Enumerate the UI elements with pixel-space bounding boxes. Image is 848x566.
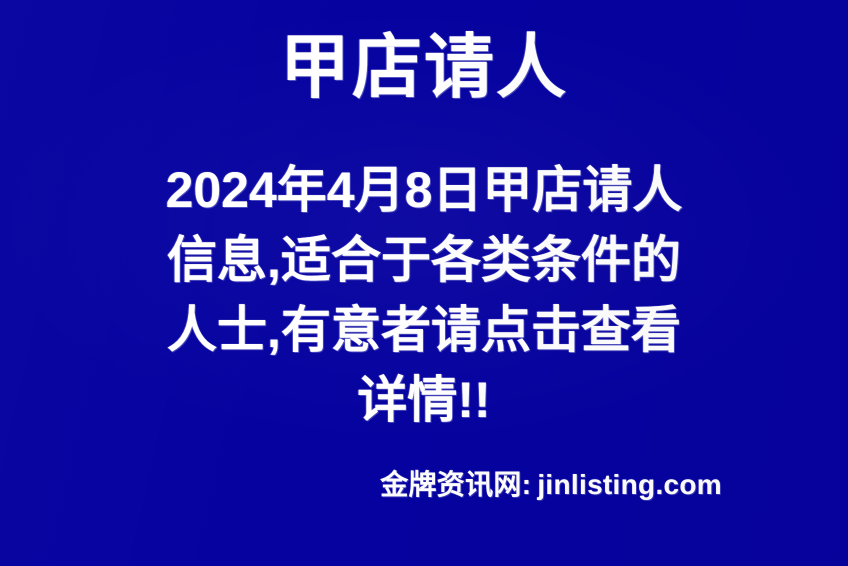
body-line-4: 详情!! xyxy=(134,365,714,435)
page-title: 甲店请人 xyxy=(0,32,848,102)
poster-canvas: 甲店请人 2024年4月8日甲店请人 信息,适合于各类条件的 人士,有意者请点击… xyxy=(0,0,848,566)
site-attribution: 金牌资讯网:jinlisting.com xyxy=(380,463,722,503)
brand-separator: : xyxy=(522,469,532,500)
body-line-2: 信息,适合于各类条件的 xyxy=(134,225,714,295)
announcement-body: 2024年4月8日甲店请人 信息,适合于各类条件的 人士,有意者请点击查看 详情… xyxy=(134,155,714,435)
brand-name: 金牌资讯网 xyxy=(380,469,522,500)
body-line-3: 人士,有意者请点击查看 xyxy=(134,295,714,365)
body-line-1: 2024年4月8日甲店请人 xyxy=(134,155,714,225)
website-url: jinlisting.com xyxy=(531,469,722,500)
